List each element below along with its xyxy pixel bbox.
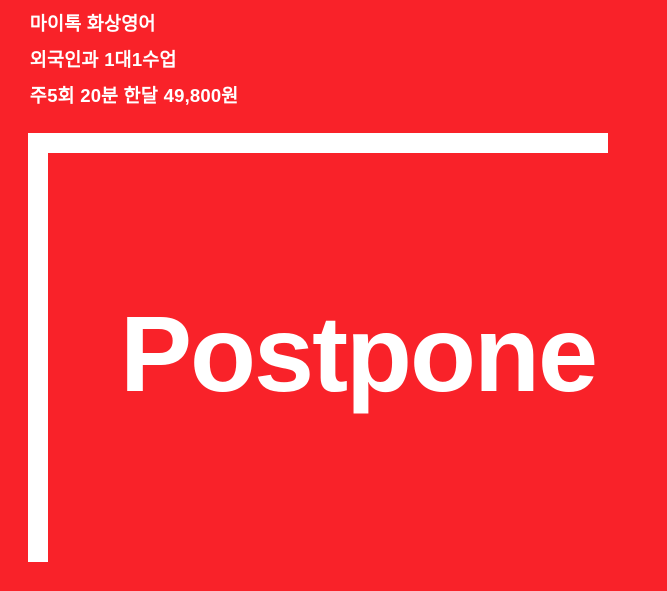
frame-top-bar xyxy=(28,133,608,153)
promo-copy-block: 마이톡 화상영어 외국인과 1대1수업 주5회 20분 한달 49,800원 xyxy=(30,6,530,114)
frame-left-bar xyxy=(28,133,48,562)
hero-word-postpone: Postpone xyxy=(120,300,596,408)
promo-line-price: 주5회 20분 한달 49,800원 xyxy=(30,78,530,114)
promo-banner: 마이톡 화상영어 외국인과 1대1수업 주5회 20분 한달 49,800원 P… xyxy=(0,0,667,591)
promo-line-brand: 마이톡 화상영어 xyxy=(30,6,530,42)
promo-line-feature: 외국인과 1대1수업 xyxy=(30,42,530,78)
